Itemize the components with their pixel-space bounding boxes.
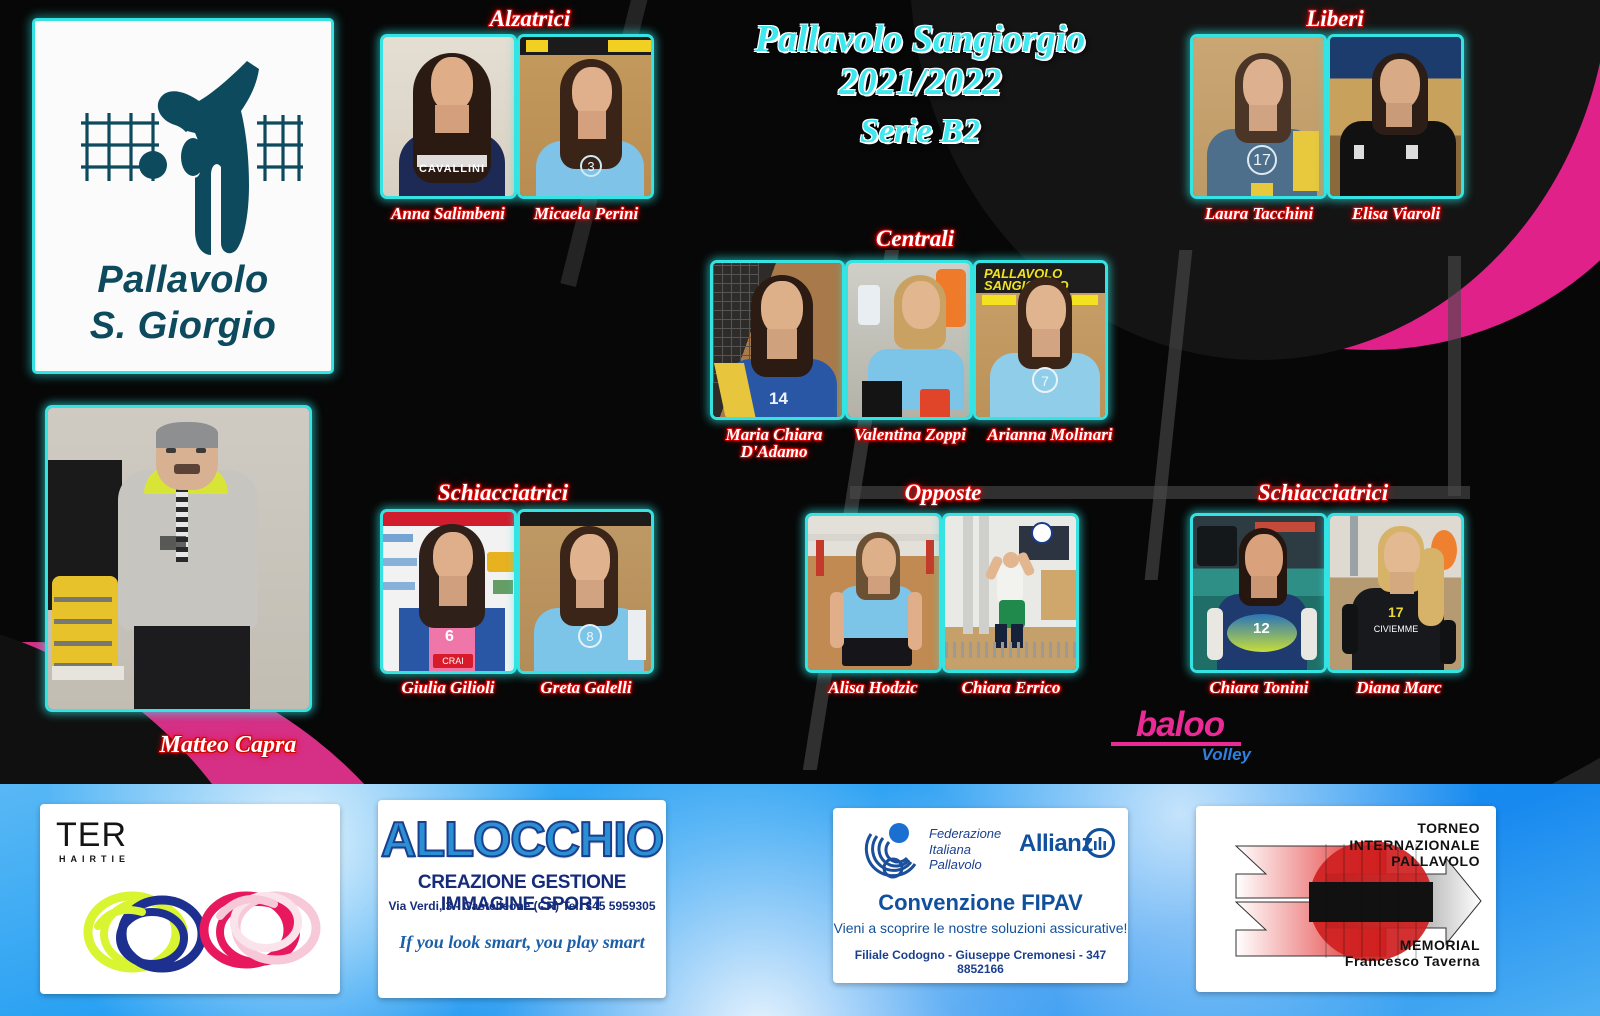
role-label-alzatrici: Alzatrici [390, 6, 670, 32]
club-logo-graphic [35, 35, 337, 285]
player-name-valentina-zoppi: Valentina Zoppi [843, 426, 977, 443]
player-name-maria-chiara-dadamo: Maria Chiara D'Adamo [704, 426, 844, 461]
team-roster-poster: Pallavolo S. Giorgio Pallavolo Sangiorgi… [0, 0, 1600, 1016]
fipav-convention-subtitle: Vieni a scoprire le nostre soluzioni ass… [833, 920, 1128, 936]
player-photo-giulia-gilioli: 6 CRAI [380, 509, 517, 674]
player-name-alisa-hodzic: Alisa Hodzic [800, 679, 946, 696]
player-name-diana-marc: Diana Marc [1326, 679, 1472, 696]
fipav-convention-title: Convenzione FIPAV [833, 890, 1128, 916]
player-name-line-2: D'Adamo [740, 442, 807, 461]
player-name-elisa-viaroli: Elisa Viaroli [1322, 205, 1470, 222]
club-logo-card: Pallavolo S. Giorgio [32, 18, 334, 374]
allocchio-address: Via Verdi, 3 - Castelleone (CR) Tel. 345… [378, 899, 666, 913]
player-name-arianna-molinari: Arianna Molinari [975, 426, 1125, 443]
fipav-fed-line3: Pallavolo [929, 857, 1001, 873]
title-line-1: Pallavolo Sangiorgio [690, 18, 1150, 61]
memorial-line-1: TORNEO [1349, 820, 1480, 837]
player-photo-anna-salimbeni: CAVALLINI [380, 34, 517, 199]
player-name-chiara-errico: Chiara Errico [938, 679, 1084, 696]
player-name-anna-salimbeni: Anna Salimbeni [372, 205, 524, 222]
coach-name: Matteo Capra [110, 733, 346, 757]
player-name-micaela-perini: Micaela Perini [512, 205, 660, 222]
club-logo-name-line1: Pallavolo [35, 259, 331, 302]
player-photo-chiara-tonini: 12 [1190, 513, 1327, 673]
sponsor-fipav-allianz: Federazione Italiana Pallavolo Allianz C… [833, 808, 1128, 983]
fipav-fed-line2: Italiana [929, 842, 1001, 858]
role-label-centrali: Centrali [790, 226, 1040, 252]
player-name-giulia-gilioli: Giulia Gilioli [372, 679, 524, 696]
hair-tie-coils-graphic [40, 804, 340, 994]
player-photo-alisa-hodzic [805, 513, 942, 673]
memorial-line-2: INTERNAZIONALE [1349, 837, 1480, 854]
role-label-schiacciatrici-left: Schiacciatrici [378, 480, 628, 506]
title-line-2: 2021/2022 [690, 61, 1150, 104]
memorial-line-5: Francesco Taverna [1345, 953, 1480, 970]
player-photo-arianna-molinari: PALLAVOLO SANGIORGIO 7 [973, 260, 1108, 420]
fipav-branch-info: Filiale Codogno - Giuseppe Cremonesi - 3… [833, 948, 1128, 976]
player-photo-chiara-errico [942, 513, 1079, 673]
allianz-logo-icon [1085, 828, 1115, 858]
role-label-liberi: Liberi [1195, 6, 1475, 32]
court-line-vertical-right [1448, 256, 1461, 496]
title-line-3: Serie B2 [690, 113, 1150, 151]
baloo-logo-text: baloo [1105, 708, 1255, 741]
player-name-greta-galelli: Greta Galelli [512, 679, 660, 696]
player-name-chiara-tonini: Chiara Tonini [1186, 679, 1332, 696]
sponsor-ter-hairtie: TER HAIRTIE [40, 804, 340, 994]
player-photo-valentina-zoppi [845, 260, 973, 420]
player-photo-diana-marc: 17 CIVIEMME [1327, 513, 1464, 673]
allocchio-tagline: If you look smart, you play smart [378, 932, 666, 953]
player-photo-micaela-perini: 3 [517, 34, 654, 199]
fipav-logo-icon [855, 820, 933, 892]
allianz-logo-text: Allianz [1019, 830, 1093, 858]
role-label-opposte: Opposte [818, 480, 1068, 506]
player-photo-greta-galelli: 8 [517, 509, 654, 674]
allocchio-title: ALLOCCHIO [378, 812, 666, 868]
memorial-tournament-title: TORNEO INTERNAZIONALE PALLAVOLO [1349, 820, 1480, 870]
fipav-federation-label: Federazione Italiana Pallavolo [929, 826, 1001, 873]
baloo-volley-logo: baloo Volley [1105, 708, 1255, 763]
fipav-fed-line1: Federazione [929, 826, 1001, 842]
page-title: Pallavolo Sangiorgio 2021/2022 Serie B2 [690, 18, 1150, 151]
player-photo-laura-tacchini: 17 [1190, 34, 1327, 199]
role-label-schiacciatrici-right: Schiacciatrici [1198, 480, 1448, 506]
memorial-line-4: MEMORIAL [1345, 937, 1480, 954]
baloo-logo-subtext: Volley [1105, 746, 1251, 763]
sponsor-memorial-taverna: TORNEO INTERNAZIONALE PALLAVOLO MEMORIAL… [1196, 806, 1496, 992]
club-logo-name-line2: S. Giorgio [35, 305, 331, 348]
sponsor-allocchio: ALLOCCHIO CREAZIONE GESTIONE IMMAGINE SP… [378, 800, 666, 998]
player-photo-elisa-viaroli [1327, 34, 1464, 199]
player-name-laura-tacchini: Laura Tacchini [1184, 205, 1334, 222]
memorial-dedication: MEMORIAL Francesco Taverna [1345, 937, 1480, 970]
coach-photo-matteo-capra [45, 405, 312, 712]
memorial-line-3: PALLAVOLO [1349, 853, 1480, 870]
sponsor-bar: TER HAIRTIE ALLOCCHIO CR [0, 784, 1600, 1016]
player-photo-maria-chiara-dadamo: 14 [710, 260, 845, 420]
